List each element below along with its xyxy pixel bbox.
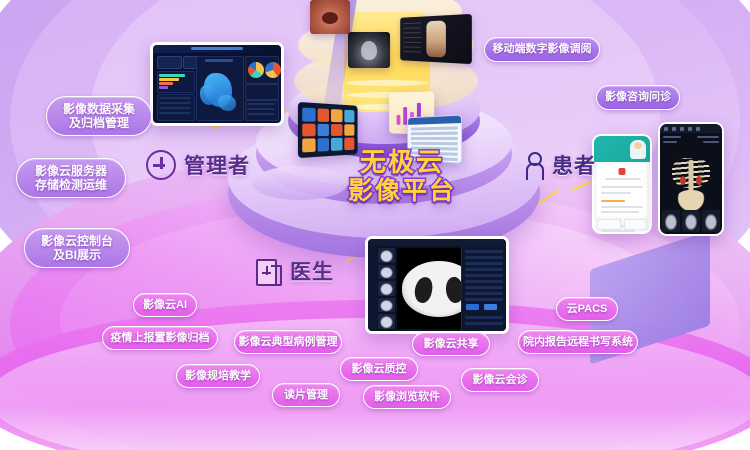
feature-pill-typical-case-management[interactable]: 影像云典型病例管理 (234, 330, 342, 354)
pill-label: 影像云会诊 (473, 374, 528, 387)
endoscopy-image-tile (310, 0, 350, 34)
pill-line-2: 及BI展示 (53, 248, 101, 262)
pill-label: 影像云AI (143, 299, 187, 312)
feature-pill-image-viewer-software[interactable]: 影像浏览软件 (363, 385, 451, 409)
feature-pill-image-cloud-ai[interactable]: 影像云AI (133, 293, 197, 317)
bi-dashboard-screen[interactable] (150, 42, 284, 126)
feature-pill-admin-console-bi[interactable]: 影像云控制台 及BI展示 (24, 228, 130, 268)
pill-line-2: 存储检测运维 (35, 178, 107, 192)
pill-label: 影像浏览软件 (374, 391, 440, 404)
xray-image-tile (400, 14, 472, 64)
feature-pill-reading-management[interactable]: 读片管理 (272, 383, 340, 407)
pill-line-1: 影像数据采集 (63, 102, 135, 116)
feature-pill-admin-cloud-server[interactable]: 影像云服务器 存储检测运维 (16, 158, 126, 198)
role-patient[interactable]: 患者 (522, 150, 596, 180)
pill-label: 影像云典型病例管理 (239, 336, 338, 349)
role-doctor[interactable]: 医生 (256, 256, 334, 286)
pacs-ct-viewer-screen[interactable] (365, 236, 509, 334)
person-icon (522, 152, 544, 178)
pill-label: 影像咨询问诊 (605, 91, 671, 104)
platform-title-line1: 无极云 (322, 148, 482, 177)
feature-pill-admin-data-collection[interactable]: 影像数据采集 及归档管理 (46, 96, 152, 136)
medical-report-icon (256, 258, 282, 284)
infographic-canvas: 管理者 患者 医生 无极云 影像平台 影像数据采集 及归档管理 影像云服务器 存… (0, 0, 750, 450)
feature-pill-epidemic-report-archive[interactable]: 疫情上报置影像归档 (102, 326, 218, 350)
pill-label: 影像规培教学 (185, 370, 251, 383)
phone-ct-3d-viewer[interactable] (658, 122, 724, 236)
pill-line-1: 影像云控制台 (41, 234, 113, 248)
pill-label: 疫情上报置影像归档 (111, 332, 210, 345)
pill-label: 影像云质控 (352, 363, 407, 376)
feature-pill-image-sharing[interactable]: 影像云共享 (412, 332, 490, 356)
pill-label: 云PACS (567, 303, 608, 316)
pill-line-2: 及归档管理 (69, 116, 129, 130)
phone-health-report[interactable] (592, 134, 652, 234)
feature-pill-intra-hospital-report-system[interactable]: 院内报告远程书写系统 (518, 330, 638, 354)
feature-pill-mobile-image-access[interactable]: 移动端数字影像调阅 (484, 37, 600, 62)
pill-label: 读片管理 (284, 389, 328, 402)
pill-label: 院内报告远程书写系统 (523, 336, 633, 349)
feature-pill-remote-consultation[interactable]: 影像云会诊 (461, 368, 539, 392)
pill-label: 移动端数字影像调阅 (493, 43, 592, 56)
feature-pill-standardized-training[interactable]: 影像规培教学 (176, 364, 260, 388)
pill-label: 影像云共享 (424, 338, 479, 351)
platform-title: 无极云 影像平台 (322, 148, 482, 205)
role-admin-label: 管理者 (184, 150, 250, 180)
feature-pill-quality-control[interactable]: 影像云质控 (340, 357, 418, 381)
role-patient-label: 患者 (552, 150, 596, 180)
pill-line-1: 影像云服务器 (35, 164, 107, 178)
feature-pill-cloud-pacs[interactable]: 云PACS (556, 297, 618, 321)
tower-core-line-1 (346, 80, 428, 86)
platform-title-line2: 影像平台 (322, 177, 482, 205)
feature-pill-image-consultation[interactable]: 影像咨询问诊 (596, 85, 680, 110)
role-admin[interactable]: 管理者 (146, 150, 250, 180)
role-doctor-label: 医生 (290, 256, 334, 286)
medical-cross-circle-icon (146, 150, 176, 180)
ultrasound-image-tile (348, 32, 390, 68)
